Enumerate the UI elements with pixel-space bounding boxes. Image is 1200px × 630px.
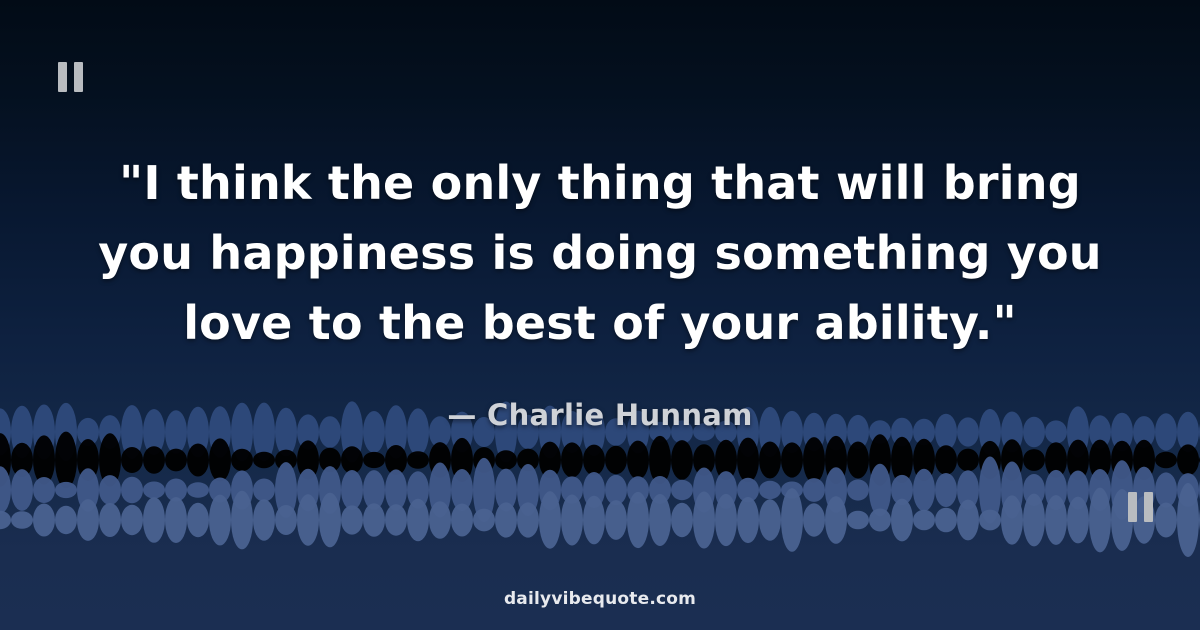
quote-line-3: love to the best of your ability."	[72, 288, 1128, 358]
quote-text: "I think the only thing that will bring …	[72, 148, 1128, 358]
footer-website: dailyvibequote.com	[0, 589, 1200, 609]
quote-card: "I think the only thing that will bring …	[0, 0, 1200, 630]
quote-line-2: you happiness is doing something you	[72, 218, 1128, 288]
quote-attribution: — Charlie Hunnam	[0, 398, 1200, 432]
quote-line-1: "I think the only thing that will bring	[72, 148, 1128, 218]
content-area: "I think the only thing that will bring …	[0, 0, 1200, 630]
